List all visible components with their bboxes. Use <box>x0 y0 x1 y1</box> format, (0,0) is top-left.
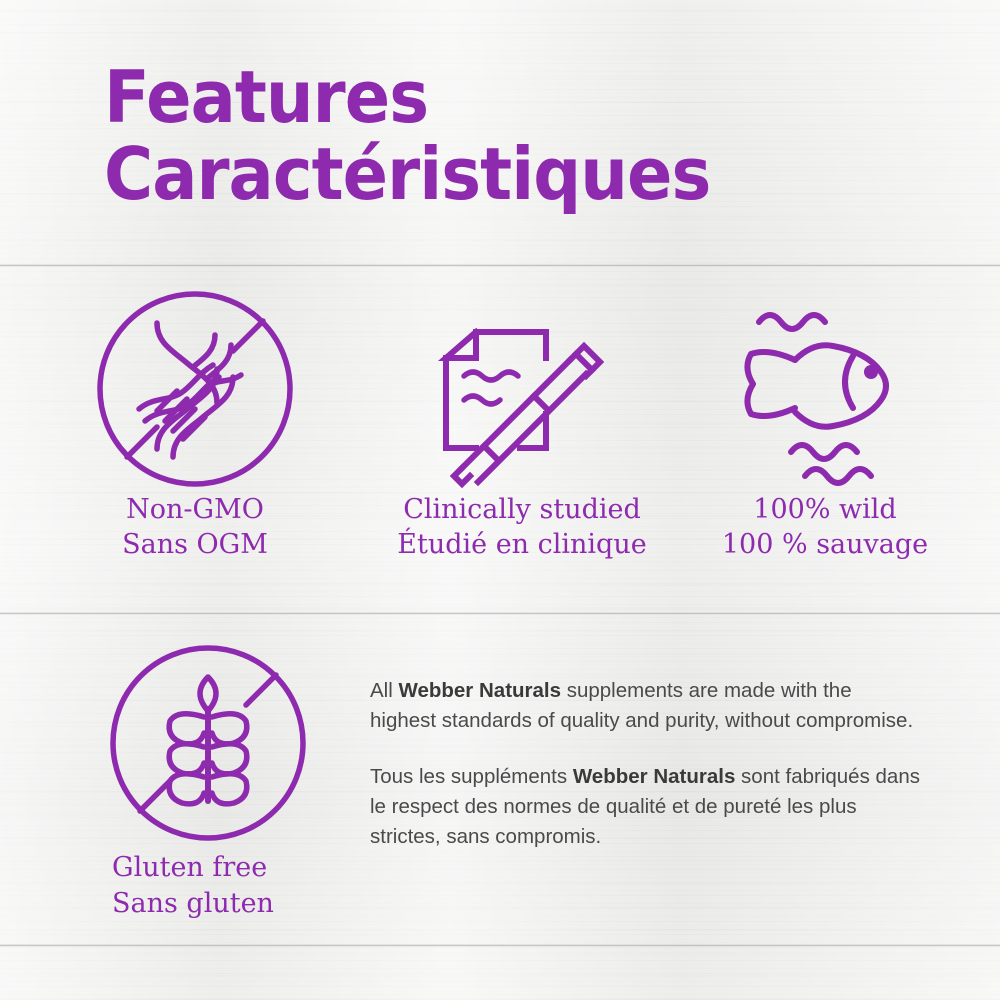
fish-waves-icon <box>700 286 950 492</box>
feature-label-clinically-studied: Clinically studied Étudié en clinique <box>372 492 672 562</box>
features-panel: Features Caractéristiques <box>0 0 1000 1000</box>
brand-copy-english: All Webber Naturals supplements are made… <box>370 676 922 736</box>
brand-name: Webber Naturals <box>398 679 561 702</box>
brand-copy: All Webber Naturals supplements are made… <box>370 676 922 852</box>
feature-gluten-free: Gluten free Sans gluten <box>88 636 328 921</box>
page-title: Features Caractéristiques <box>104 62 924 209</box>
wood-plank-seam <box>0 264 1000 267</box>
feature-wild-fish: 100% wild 100 % sauvage <box>700 286 950 562</box>
feature-label-gluten-free: Gluten free Sans gluten <box>88 850 328 921</box>
feature-clinically-studied: Clinically studied Étudié en clinique <box>372 286 672 562</box>
gluten-free-wheat-icon <box>88 636 328 850</box>
no-gmo-dna-icon <box>88 286 302 492</box>
brand-name: Webber Naturals <box>573 765 736 788</box>
feature-label-non-gmo: Non-GMO Sans OGM <box>88 492 302 562</box>
page-title-french: Caractéristiques <box>104 139 867 210</box>
brand-copy-french: Tous les suppléments Webber Naturals son… <box>370 762 922 852</box>
page-title-english: Features <box>104 62 867 133</box>
copy-en-before: All <box>370 679 398 702</box>
feature-label-wild: 100% wild 100 % sauvage <box>700 492 950 562</box>
clipboard-pen-icon <box>372 286 672 492</box>
wood-plank-seam <box>0 944 1000 947</box>
feature-non-gmo: Non-GMO Sans OGM <box>88 286 302 562</box>
copy-fr-before: Tous les suppléments <box>370 765 573 788</box>
wood-plank-seam <box>0 612 1000 615</box>
